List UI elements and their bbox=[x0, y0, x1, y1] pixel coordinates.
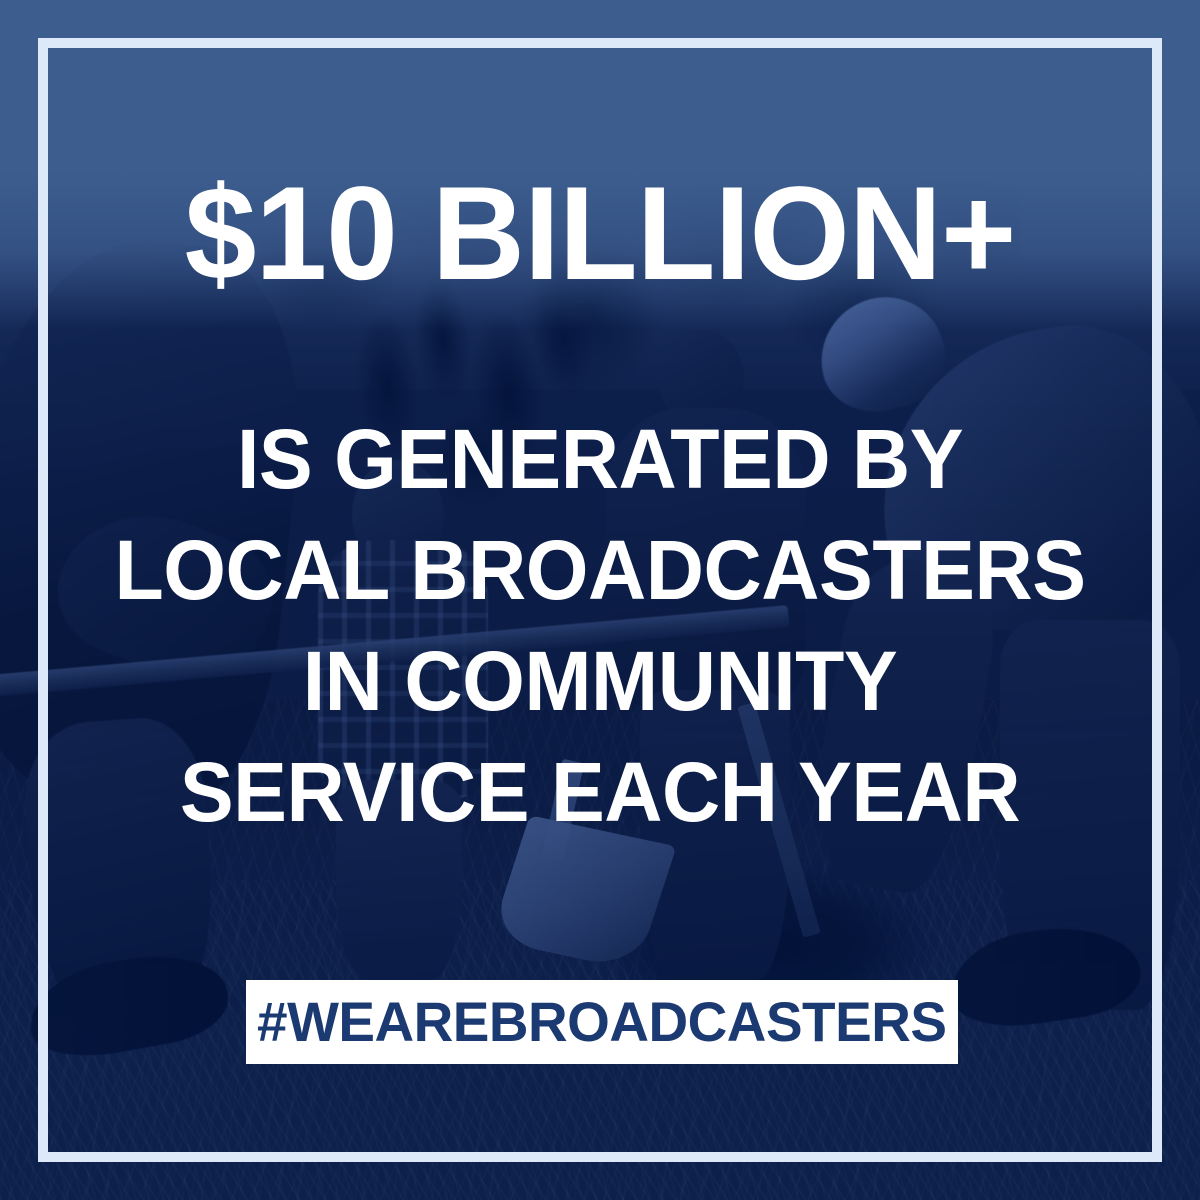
hashtag-label: #WEAREBROADCASTERS bbox=[257, 994, 946, 1050]
headline-statistic: $10 BILLION+ bbox=[18, 168, 1182, 301]
subheadline-line-4: SERVICE EACH YEAR bbox=[24, 737, 1176, 848]
subheadline-block: IS GENERATED BY LOCAL BROADCASTERS IN CO… bbox=[0, 404, 1200, 848]
hashtag-banner: #WEAREBROADCASTERS bbox=[246, 980, 958, 1064]
content-layer: $10 BILLION+ IS GENERATED BY LOCAL BROAD… bbox=[0, 0, 1200, 1200]
promo-graphic: $10 BILLION+ IS GENERATED BY LOCAL BROAD… bbox=[0, 0, 1200, 1200]
subheadline-line-1: IS GENERATED BY bbox=[24, 404, 1176, 515]
subheadline-line-2: LOCAL BROADCASTERS bbox=[24, 515, 1176, 626]
subheadline-line-3: IN COMMUNITY bbox=[24, 626, 1176, 737]
